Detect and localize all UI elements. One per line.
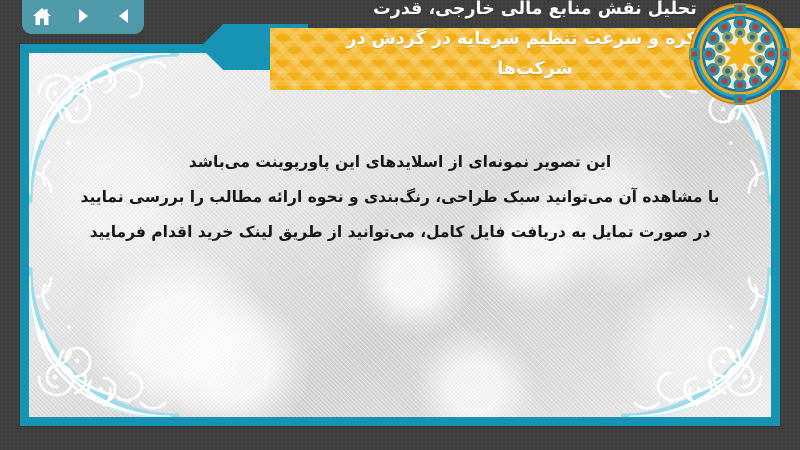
content-frame: این تصویر نمونه‌ای از اسلایدهای این پاور…	[20, 44, 780, 426]
home-icon	[32, 7, 52, 26]
title-line-1: تحلیل نقش منابع مالی خارجی، قدرت	[373, 0, 697, 19]
triangle-left-icon	[115, 7, 133, 25]
filigree-corner-icon	[29, 267, 179, 417]
next-slide-button[interactable]	[68, 3, 98, 29]
slide-body: این تصویر نمونه‌ای از اسلایدهای این پاور…	[69, 145, 731, 250]
mandala-medallion-icon	[688, 2, 792, 106]
triangle-right-icon	[74, 7, 92, 25]
previous-slide-button[interactable]	[109, 3, 139, 29]
body-line-2: با مشاهده آن می‌توانید سبک طراحی، رنگ‌بن…	[69, 180, 731, 215]
slide-viewer: تحلیل نقش منابع مالی خارجی، قدرت مذاکره …	[0, 0, 800, 450]
filigree-corner-icon	[621, 267, 771, 417]
body-line-1: این تصویر نمونه‌ای از اسلایدهای این پاور…	[69, 145, 731, 180]
home-button[interactable]	[27, 3, 57, 29]
slide-navigation-bar	[22, 0, 144, 34]
body-line-3: در صورت تمایل به دریافت فایل کامل، می‌تو…	[69, 215, 731, 250]
content-surface: این تصویر نمونه‌ای از اسلایدهای این پاور…	[29, 53, 771, 417]
